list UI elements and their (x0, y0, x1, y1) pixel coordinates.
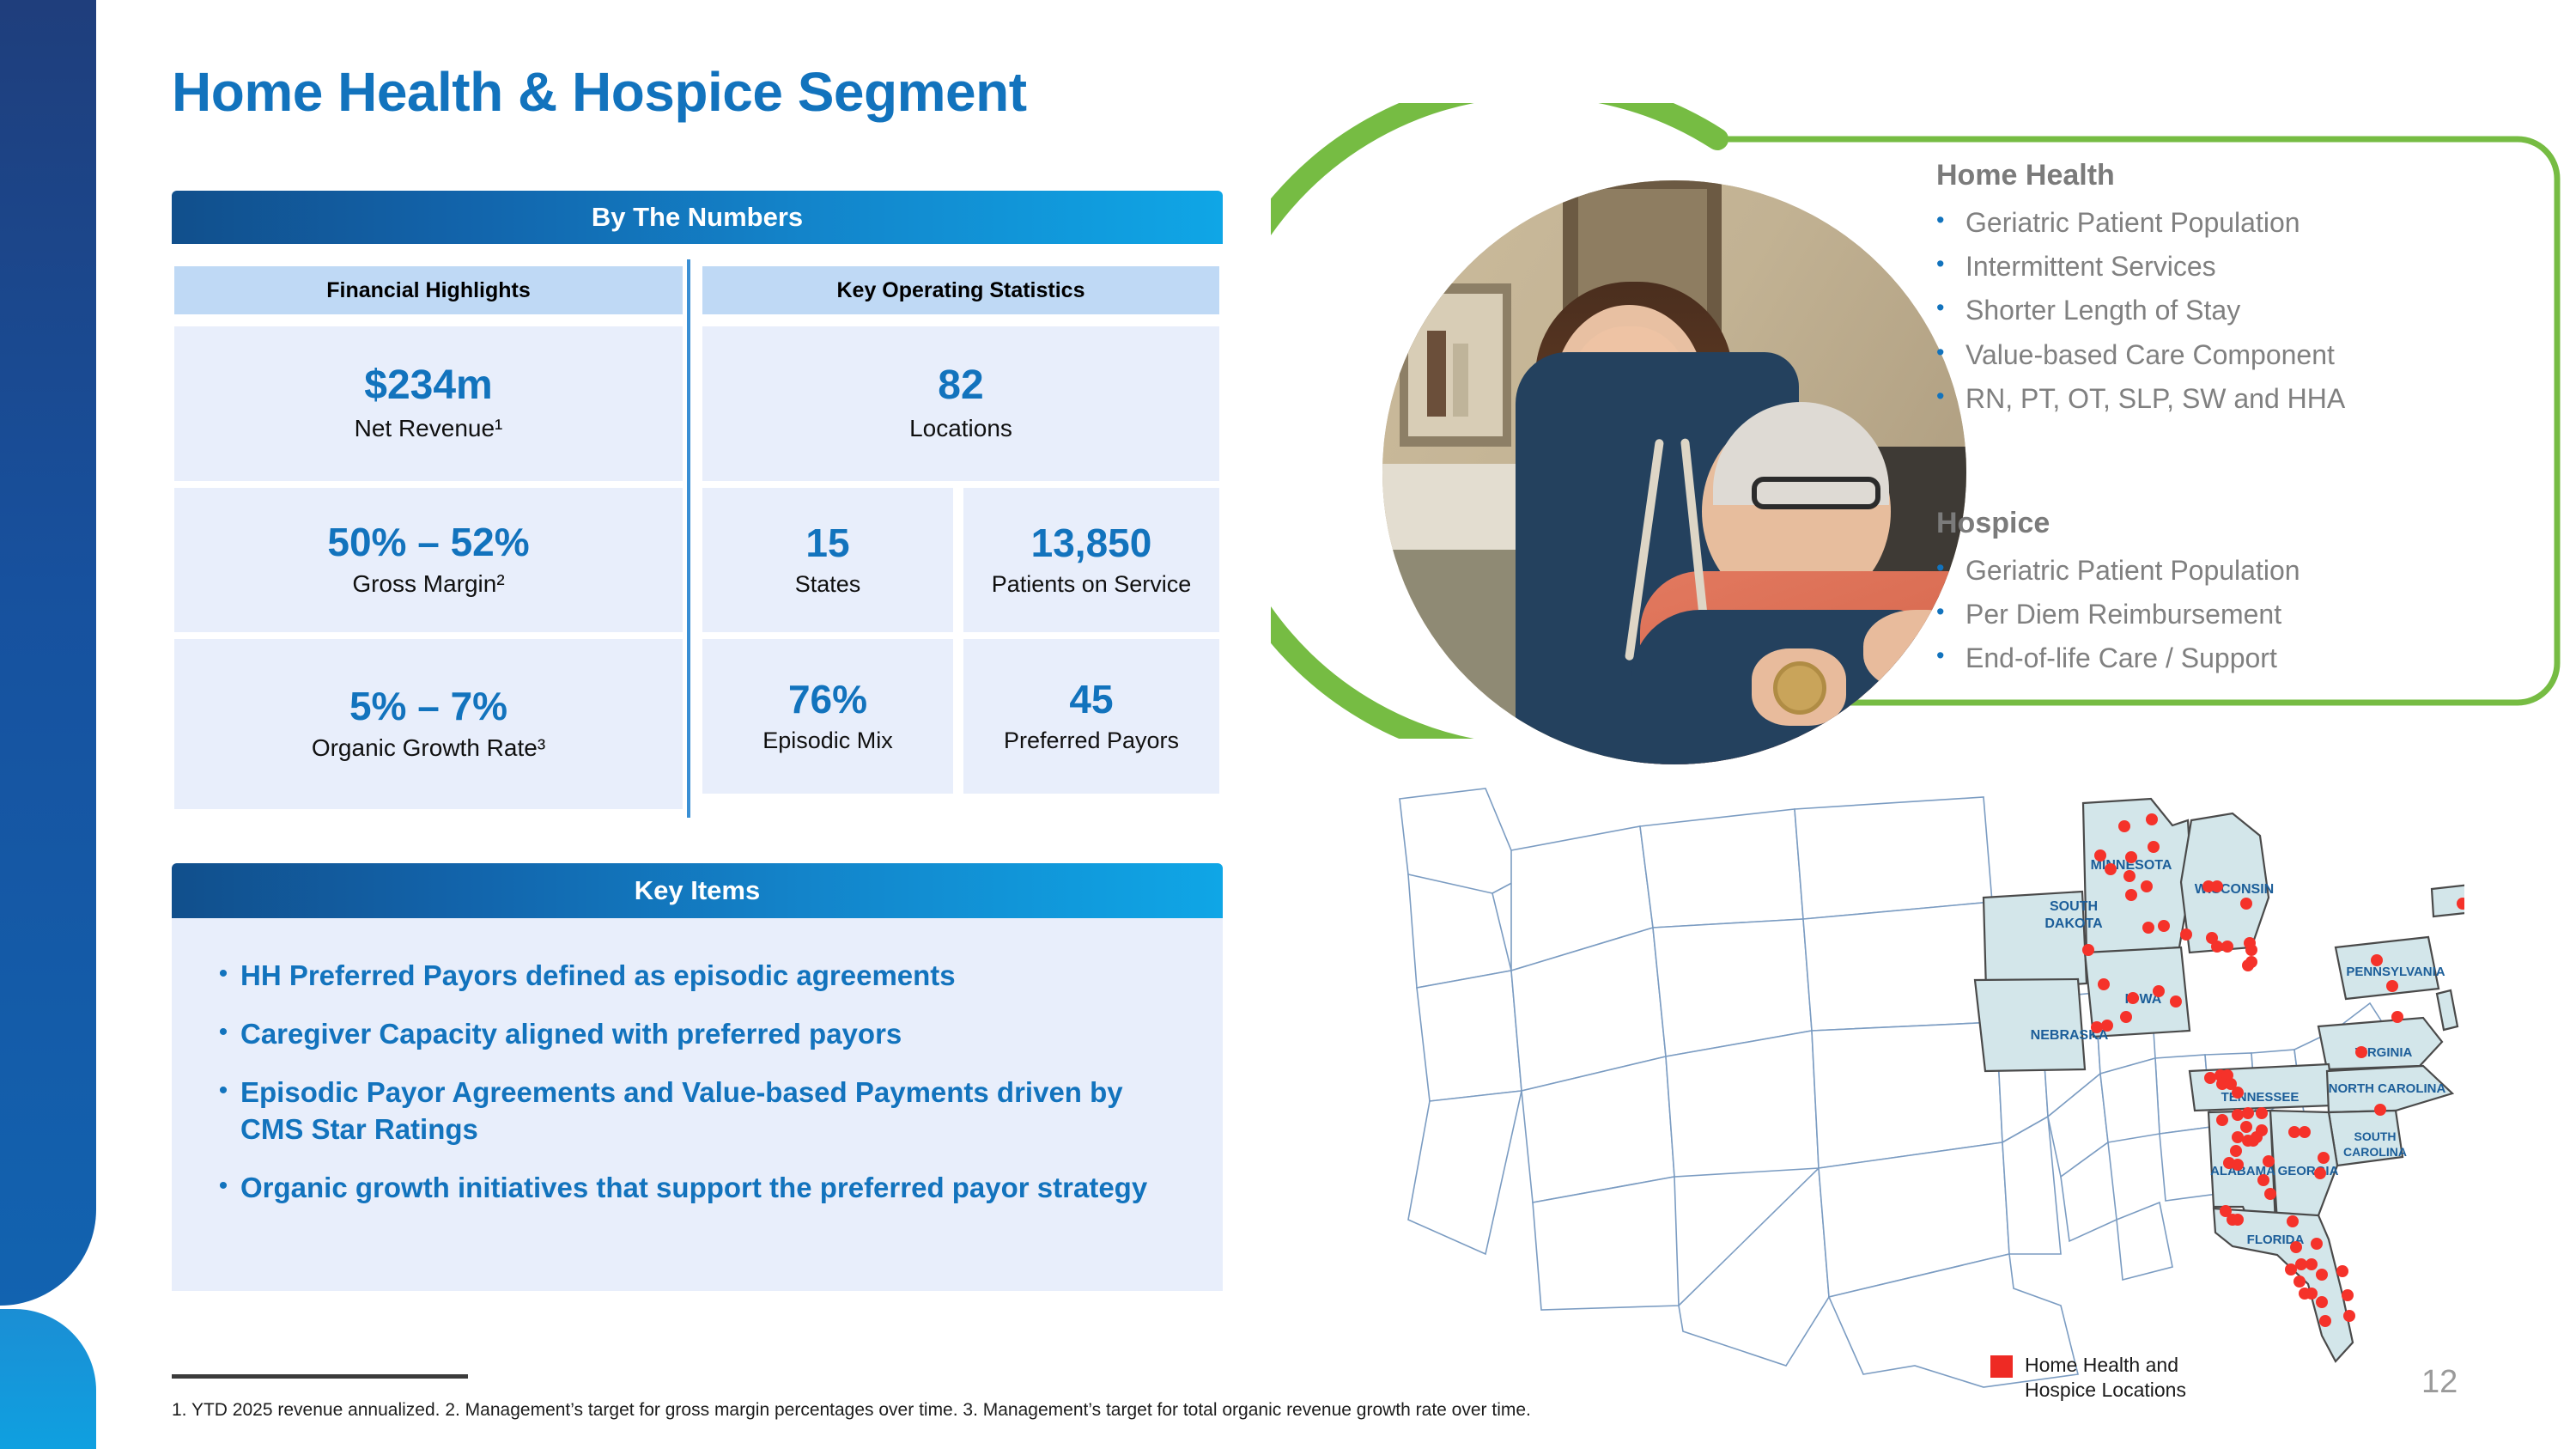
us-locations-map: SOUTH DAKOTA NEBRASKA MINNESOTA IOWA WIS… (1382, 773, 2464, 1391)
key-items-list: • HH Preferred Payors defined as episodi… (172, 918, 1223, 1291)
svg-text:GEORGIA: GEORGIA (2278, 1164, 2339, 1178)
list-item-text: Shorter Length of Stay (1965, 292, 2240, 328)
stat-value: 5% – 7% (349, 686, 507, 726)
stat-value: 13,850 (1031, 523, 1152, 563)
key-item-row: • HH Preferred Payors defined as episodi… (206, 958, 1188, 994)
bullet-icon: • (206, 958, 240, 994)
list-item: • Geriatric Patient Population (1936, 204, 2537, 240)
list-item-text: End-of-life Care / Support (1965, 640, 2277, 676)
key-item-text: Organic growth initiatives that support … (240, 1170, 1147, 1206)
stat-cell-organic-growth-rate: 5% – 7% Organic Growth Rate³ (174, 639, 683, 809)
stat-value: 82 (938, 365, 983, 406)
stat-cell-locations: 82 Locations (702, 326, 1219, 481)
stat-cell-states: 15 States (702, 488, 953, 632)
list-item: • Shorter Length of Stay (1936, 292, 2537, 328)
bullet-icon: • (206, 1170, 240, 1206)
bullet-icon: • (1936, 381, 1965, 411)
svg-text:PENNSYLVANIA: PENNSYLVANIA (2346, 965, 2445, 979)
home-health-list: Home Health • Geriatric Patient Populati… (1936, 159, 2537, 424)
stat-value: 76% (788, 679, 867, 719)
by-the-numbers-banner: By The Numbers (172, 191, 1223, 244)
key-item-text: Episodic Payor Agreements and Value-base… (240, 1075, 1176, 1147)
svg-text:NORTH CAROLINA: NORTH CAROLINA (2329, 1081, 2446, 1096)
list-item: • Per Diem Reimbursement (1936, 596, 2537, 632)
stat-value: $234m (364, 365, 492, 406)
hospice-heading: Hospice (1936, 507, 2537, 540)
stat-cell-patients-on-service: 13,850 Patients on Service (963, 488, 1219, 632)
list-item: • Intermittent Services (1936, 248, 2537, 284)
column-divider (687, 259, 690, 818)
nurse-patient-photo (1382, 180, 1966, 764)
bullet-icon: • (1936, 337, 1965, 368)
bullet-icon: • (1936, 204, 1965, 235)
stat-label: Patients on Service (992, 571, 1192, 598)
list-item: • RN, PT, OT, SLP, SW and HHA (1936, 381, 2537, 417)
list-item-text: Per Diem Reimbursement (1965, 596, 2281, 632)
bullet-icon: • (206, 1016, 240, 1052)
stat-cell-episodic-mix: 76% Episodic Mix (702, 639, 953, 794)
list-item-text: Geriatric Patient Population (1965, 552, 2300, 588)
stat-cell-gross-margin: 50% – 52% Gross Margin² (174, 488, 683, 632)
stat-label: Net Revenue¹ (355, 415, 503, 442)
home-health-heading: Home Health (1936, 159, 2537, 192)
stat-value: 50% – 52% (327, 522, 529, 562)
bullet-icon: • (1936, 552, 1965, 583)
financial-highlights-header: Financial Highlights (174, 266, 683, 314)
svg-text:CAROLINA: CAROLINA (2343, 1145, 2407, 1159)
list-item: • Geriatric Patient Population (1936, 552, 2537, 588)
stat-label: Organic Growth Rate³ (312, 734, 545, 762)
list-item-text: Geriatric Patient Population (1965, 204, 2300, 240)
key-item-text: HH Preferred Payors defined as episodic … (240, 958, 956, 994)
key-items-banner: Key Items (172, 863, 1223, 918)
stat-label: Episodic Mix (762, 728, 893, 754)
stat-value: 15 (805, 523, 849, 563)
left-accent-bar-bottom (0, 1309, 96, 1449)
list-item: • Value-based Care Component (1936, 337, 2537, 373)
left-accent-bar-top (0, 0, 96, 1306)
footnote-divider (172, 1374, 468, 1379)
page-title: Home Health & Hospice Segment (172, 60, 1027, 124)
stat-cell-net-revenue: $234m Net Revenue¹ (174, 326, 683, 481)
legend-label: Home Health and Hospice Locations (2025, 1353, 2186, 1403)
key-operating-statistics-header: Key Operating Statistics (702, 266, 1219, 314)
list-item-text: Intermittent Services (1965, 248, 2216, 284)
stat-label: States (795, 571, 861, 598)
stat-cell-preferred-payors: 45 Preferred Payors (963, 639, 1219, 794)
key-item-row: • Organic growth initiatives that suppor… (206, 1170, 1188, 1206)
bullet-icon: • (1936, 292, 1965, 323)
hospice-list: Hospice • Geriatric Patient Population •… (1936, 507, 2537, 685)
list-item: • End-of-life Care / Support (1936, 640, 2537, 676)
key-item-row: • Caregiver Capacity aligned with prefer… (206, 1016, 1188, 1052)
stat-label: Locations (909, 415, 1012, 442)
key-item-text: Caregiver Capacity aligned with preferre… (240, 1016, 902, 1052)
bullet-icon: • (1936, 640, 1965, 671)
slide-canvas: Home Health & Hospice Segment By The Num… (0, 0, 2576, 1449)
stat-label: Gross Margin² (352, 570, 504, 598)
svg-text:SOUTH: SOUTH (2354, 1129, 2397, 1143)
bullet-icon: • (1936, 596, 1965, 627)
legend-swatch-icon (1990, 1355, 2013, 1378)
footnote-text: 1. YTD 2025 revenue annualized. 2. Manag… (172, 1400, 1531, 1421)
key-item-row: • Episodic Payor Agreements and Value-ba… (206, 1075, 1188, 1147)
bullet-icon: • (1936, 248, 1965, 279)
svg-text:DAKOTA: DAKOTA (2044, 916, 2103, 931)
map-legend: Home Health and Hospice Locations (1990, 1353, 2186, 1403)
page-number: 12 (2421, 1364, 2458, 1401)
legend-line-1: Home Health and (2025, 1353, 2186, 1378)
svg-text:SOUTH: SOUTH (2050, 899, 2098, 914)
list-item-text: Value-based Care Component (1965, 337, 2335, 373)
stat-label: Preferred Payors (1004, 728, 1179, 754)
stat-value: 45 (1069, 679, 1113, 719)
legend-line-2: Hospice Locations (2025, 1378, 2186, 1403)
list-item-text: RN, PT, OT, SLP, SW and HHA (1965, 381, 2345, 417)
bullet-icon: • (206, 1075, 240, 1147)
